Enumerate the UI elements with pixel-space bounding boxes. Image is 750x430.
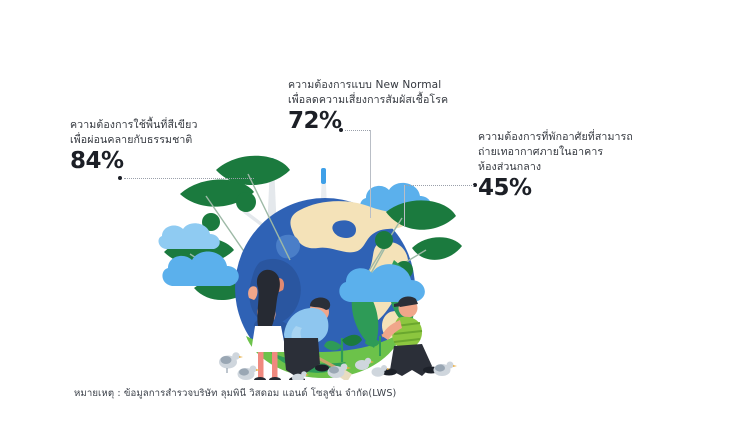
callout-green-space-value-row: 84% — [70, 148, 250, 174]
callout-ventilation-value: 45 — [478, 175, 509, 201]
leader-dotline-ventilation — [404, 185, 474, 186]
callout-new-normal-description: ความต้องการแบบ New Normal เพื่อลดความเสี… — [288, 78, 488, 108]
footnote-source: หมายเหตุ : ข้อมูลการสำรวจบริษัท ลุมพินี … — [74, 386, 396, 401]
infographic-canvas: ความต้องการใช้พื้นที่สีเขียว เพื่อผ่อนคล… — [0, 0, 750, 430]
skirt — [251, 326, 286, 352]
callout-ventilation-symbol: % — [509, 175, 532, 201]
leader-vline-ventilation — [404, 185, 405, 227]
leg-right — [272, 352, 278, 378]
bird-icon-7 — [434, 362, 458, 377]
callout-new-normal: ความต้องการแบบ New Normal เพื่อลดความเสี… — [288, 78, 488, 134]
leader-dot-green-space — [118, 176, 122, 180]
leader-vline-new-normal — [370, 130, 371, 218]
callout-ventilation-value-row: 45% — [478, 175, 693, 201]
callout-new-normal-value: 72 — [288, 108, 319, 134]
shoe-left — [254, 377, 266, 380]
leader-dotline-green-space — [124, 178, 254, 179]
leaf-bud-right-1 — [375, 231, 393, 249]
shoe-back — [315, 365, 329, 372]
bird-icon-1 — [219, 352, 243, 373]
callout-green-space: ความต้องการใช้พื้นที่สีเขียว เพื่อผ่อนคล… — [70, 118, 250, 174]
callout-green-space-value: 84 — [70, 148, 101, 174]
callout-ventilation: ความต้องการที่พักอาศัยที่สามารถ ถ่ายเทอา… — [478, 130, 693, 201]
leaf-bud-front-left — [236, 192, 256, 212]
leg-left — [258, 352, 264, 378]
shoe-right — [269, 377, 281, 380]
callout-green-space-symbol: % — [101, 148, 124, 174]
illustration-earth-planting — [150, 140, 500, 380]
callout-ventilation-description: ความต้องการที่พักอาศัยที่สามารถ ถ่ายเทอา… — [478, 130, 693, 175]
callout-green-space-description: ความต้องการใช้พื้นที่สีเขียว เพื่อผ่อนคล… — [70, 118, 250, 148]
callout-new-normal-symbol: % — [319, 108, 342, 134]
callout-new-normal-value-row: 72% — [288, 108, 488, 134]
